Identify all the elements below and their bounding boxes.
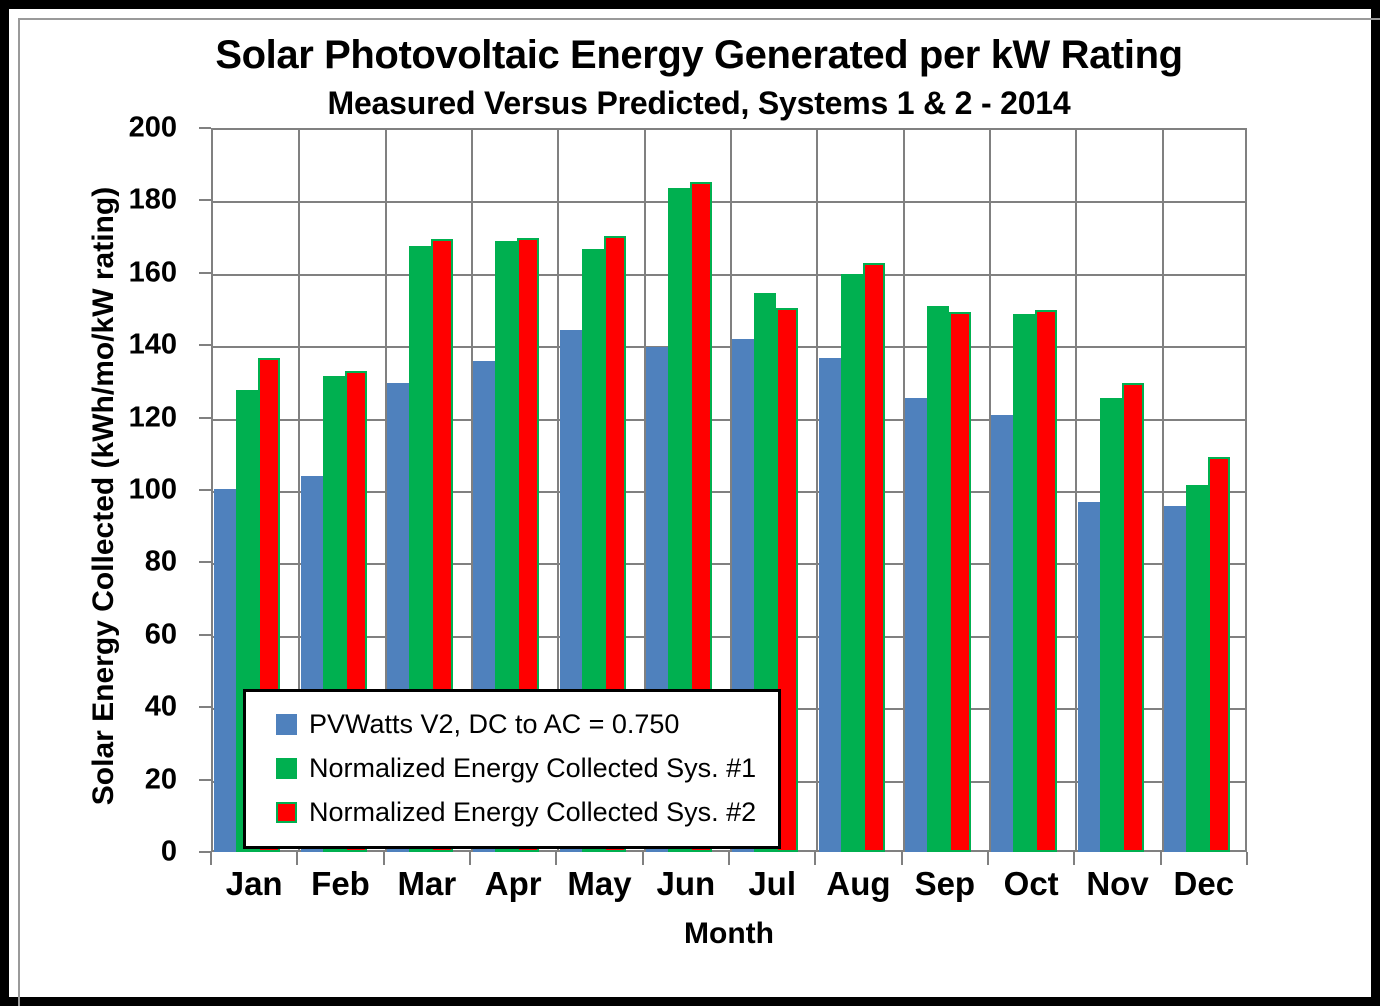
bar-sep-series-1 — [905, 398, 927, 852]
y-axis-tick-mark — [199, 706, 211, 708]
y-axis-tick-mark — [199, 779, 211, 781]
y-axis-tick-mark — [199, 272, 211, 274]
chart-frame: Solar Photovoltaic Energy Generated per … — [0, 0, 1380, 1006]
y-axis-tick-mark — [199, 417, 211, 419]
chart-subtitle: Measured Versus Predicted, Systems 1 & 2… — [9, 85, 1380, 122]
y-axis-tick-label: 100 — [57, 474, 177, 507]
x-axis-title: Month — [211, 917, 1247, 951]
x-axis-tick-mark — [210, 852, 212, 865]
x-axis-tick-label: Aug — [826, 865, 890, 903]
bar-nov-series-2 — [1100, 398, 1122, 852]
bar-dec-series-2 — [1186, 485, 1208, 852]
x-axis-tick-mark — [728, 852, 730, 865]
x-axis-tick-mark — [469, 852, 471, 865]
y-axis-tick-label: 180 — [57, 184, 177, 217]
y-axis-tick-mark — [199, 561, 211, 563]
x-axis-tick-label: Jan — [226, 865, 283, 903]
chart-title: Solar Photovoltaic Energy Generated per … — [9, 33, 1380, 78]
bar-nov-series-1 — [1078, 502, 1100, 852]
y-axis-tick-mark — [199, 344, 211, 346]
x-axis-tick-label: Oct — [1004, 865, 1059, 903]
legend-item[interactable]: Normalized Energy Collected Sys. #2 — [260, 790, 764, 834]
y-axis-tick-label: 0 — [57, 836, 177, 869]
x-axis-tick-mark — [642, 852, 644, 865]
x-axis-tick-mark — [987, 852, 989, 865]
x-axis-tick-mark — [814, 852, 816, 865]
bar-sep-series-3 — [949, 312, 971, 852]
bar-oct-series-1 — [991, 415, 1013, 852]
bar-dec-series-3 — [1208, 457, 1230, 852]
x-axis-tick-mark — [1246, 852, 1248, 865]
y-axis-tick-mark — [199, 127, 211, 129]
bar-sep-series-2 — [927, 306, 949, 852]
chart-legend: PVWatts V2, DC to AC = 0.750Normalized E… — [243, 689, 781, 849]
y-axis-tick-label: 200 — [57, 112, 177, 145]
x-axis-tick-label: Sep — [915, 865, 976, 903]
bar-oct-series-3 — [1035, 310, 1057, 852]
x-axis-tick-label: May — [567, 865, 631, 903]
bar-oct-series-2 — [1013, 314, 1035, 852]
y-axis-tick-label: 60 — [57, 618, 177, 651]
y-axis-tick-mark — [199, 489, 211, 491]
x-axis-tick-label: Jul — [748, 865, 796, 903]
bar-dec-series-1 — [1164, 506, 1186, 852]
x-axis-tick-label: Mar — [397, 865, 456, 903]
bar-aug-series-1 — [819, 358, 841, 852]
x-axis-tick-mark — [901, 852, 903, 865]
x-axis-tick-label: Apr — [485, 865, 542, 903]
x-axis-tick-mark — [296, 852, 298, 865]
y-axis-tick-label: 140 — [57, 329, 177, 362]
legend-swatch-green — [276, 758, 297, 779]
legend-item-label: PVWatts V2, DC to AC = 0.750 — [309, 709, 679, 740]
y-axis-tick-label: 160 — [57, 256, 177, 289]
y-axis-tick-label: 80 — [57, 546, 177, 579]
legend-item-label: Normalized Energy Collected Sys. #1 — [309, 753, 756, 784]
y-axis-tick-label: 40 — [57, 691, 177, 724]
bar-aug-series-3 — [863, 263, 885, 852]
x-axis-tick-mark — [1073, 852, 1075, 865]
legend-item-label: Normalized Energy Collected Sys. #2 — [309, 797, 756, 828]
x-axis-tick-mark — [555, 852, 557, 865]
y-axis-tick-label: 120 — [57, 401, 177, 434]
y-axis-tick-label: 20 — [57, 763, 177, 796]
y-axis-tick-mark — [199, 634, 211, 636]
x-axis-tick-label: Feb — [311, 865, 370, 903]
legend-swatch-blue — [276, 714, 297, 735]
legend-swatch-red — [276, 802, 297, 823]
bar-jan-series-1 — [214, 489, 236, 852]
bar-aug-series-2 — [841, 274, 863, 852]
x-axis-tick-label: Jun — [656, 865, 715, 903]
y-axis-tick-mark — [199, 199, 211, 201]
legend-item[interactable]: PVWatts V2, DC to AC = 0.750 — [260, 702, 764, 746]
x-axis-tick-label: Nov — [1086, 865, 1148, 903]
legend-item[interactable]: Normalized Energy Collected Sys. #1 — [260, 746, 764, 790]
x-axis-tick-mark — [383, 852, 385, 865]
x-axis-tick-mark — [1160, 852, 1162, 865]
bar-nov-series-3 — [1122, 383, 1144, 852]
x-axis-tick-label: Dec — [1174, 865, 1235, 903]
